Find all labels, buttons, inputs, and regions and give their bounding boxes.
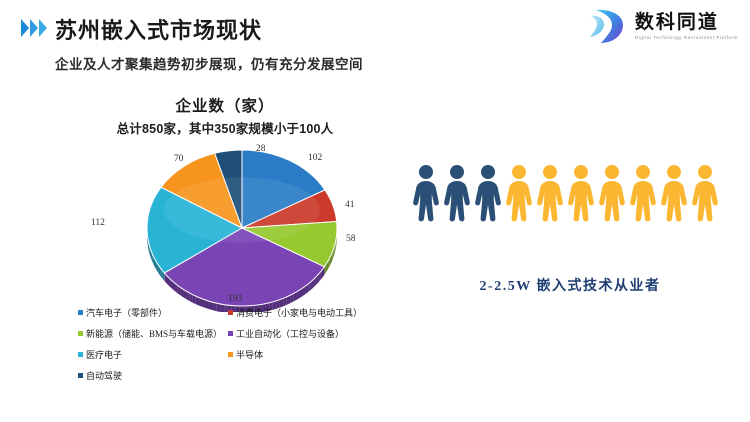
pie-label-newenergy: 58 (346, 234, 356, 244)
chevron-right-icon-3 (39, 19, 47, 37)
legend-row: 医疗电子 半导体 (78, 350, 390, 371)
legend-label: 汽车电子（零部件） (86, 308, 167, 318)
legend-item-semiconductor[interactable]: 半导体 (228, 350, 388, 360)
chart-subtitle: 总计850家，其中350家规模小于100人 (60, 118, 390, 137)
logo-name: 数科同道 (635, 12, 719, 34)
legend-row: 汽车电子（零部件） 消费电子（小家电与电动工具） (78, 308, 390, 329)
page-subtitle: 企业及人才聚集趋势初步展现，仍有充分发展空间 (55, 53, 363, 73)
legend-swatch-icon (78, 352, 83, 357)
legend-item-industrial[interactable]: 工业自动化（工控与设备） (228, 329, 388, 339)
chevron-right-icon-1 (21, 19, 29, 37)
logo-glyph-icon (585, 6, 629, 46)
pie-label-automotive: 102 (308, 153, 322, 163)
legend-label: 自动驾驶 (86, 371, 122, 381)
pie-gloss (164, 177, 320, 243)
pie-label-autonomous: 28 (256, 144, 266, 154)
workforce-panel: 2-2.5W 嵌入式技术从业者 (400, 150, 740, 330)
legend-label: 消费电子（小家电与电动工具） (236, 308, 362, 318)
brand-logo: 数科同道 Digital Technology Recruitment Plat… (585, 6, 738, 46)
pie-label-medical: 112 (91, 218, 105, 228)
person-icon (412, 164, 440, 222)
chevrons-right-icon (21, 19, 47, 37)
logo-text: 数科同道 Digital Technology Recruitment Plat… (635, 12, 738, 41)
chevron-right-icon-2 (30, 19, 38, 37)
person-icon (474, 164, 502, 222)
legend-swatch-icon (228, 352, 233, 357)
legend-item-newenergy[interactable]: 新能源（储能、BMS与车载电源） (78, 329, 228, 339)
legend-swatch-icon (228, 331, 233, 336)
slide-root: 苏州嵌入式市场现状 企业及人才聚集趋势初步展现，仍有充分发展空间 (0, 0, 750, 422)
pie-label-consumer: 41 (345, 200, 355, 210)
legend-item-consumer[interactable]: 消费电子（小家电与电动工具） (228, 308, 388, 318)
legend-row: 自动驾驶 (78, 371, 390, 392)
chart-legend: 汽车电子（零部件） 消费电子（小家电与电动工具） 新能源（储能、BMS与车载电源… (78, 308, 390, 392)
pie-chart: 28 102 41 58 193 112 70 (60, 142, 390, 312)
legend-item-automotive[interactable]: 汽车电子（零部件） (78, 308, 228, 318)
legend-swatch-icon (78, 373, 83, 378)
person-icon (598, 164, 626, 222)
company-logo-mark (585, 6, 629, 46)
legend-label: 半导体 (236, 350, 263, 360)
legend-item-autonomous[interactable]: 自动驾驶 (78, 371, 228, 381)
person-icon (505, 164, 533, 222)
pie-chart-panel: 企业数（家） 总计850家，其中350家规模小于100人 28 102 41 5… (60, 90, 390, 410)
legend-swatch-icon (78, 310, 83, 315)
pie-chart-svg (60, 142, 390, 312)
workforce-caption: 2-2.5W 嵌入式技术从业者 (400, 275, 740, 295)
legend-swatch-icon (78, 331, 83, 336)
person-icon (567, 164, 595, 222)
legend-label: 工业自动化（工控与设备） (236, 329, 344, 339)
logo-tagline: Digital Technology Recruitment Platform (635, 35, 738, 40)
person-icon (660, 164, 688, 222)
pie-label-industrial: 193 (228, 294, 242, 304)
chart-title: 企业数（家） (60, 94, 390, 116)
page-title: 苏州嵌入式市场现状 (55, 13, 262, 45)
legend-label: 医疗电子 (86, 350, 122, 360)
legend-item-medical[interactable]: 医疗电子 (78, 350, 228, 360)
people-pictogram (412, 164, 719, 222)
legend-row: 新能源（储能、BMS与车载电源） 工业自动化（工控与设备） (78, 329, 390, 350)
person-icon (691, 164, 719, 222)
legend-label: 新能源（储能、BMS与车载电源） (86, 329, 222, 339)
person-icon (443, 164, 471, 222)
person-icon (536, 164, 564, 222)
slide-header: 苏州嵌入式市场现状 企业及人才聚集趋势初步展现，仍有充分发展空间 (0, 0, 750, 88)
person-icon (629, 164, 657, 222)
legend-swatch-icon (228, 310, 233, 315)
pie-label-semiconductor: 70 (174, 154, 184, 164)
